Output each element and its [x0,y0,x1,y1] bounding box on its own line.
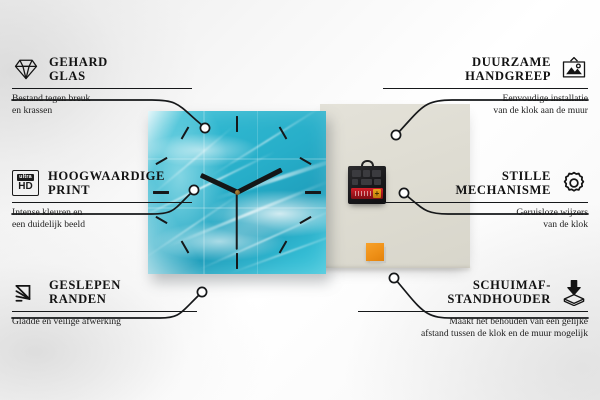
callout-description: Intense kleuren en een duidelijk beeld [12,207,192,230]
infographic-stage: + [0,0,600,400]
callout-rule [383,88,588,89]
callout-duurzame-handgreep: DUURZAME HANDGREEP Eenvoudige installati… [383,52,588,116]
aa-battery: + [351,188,383,199]
gear-icon [560,169,588,197]
clock-center-hub [235,190,240,195]
hour-marker [181,241,190,254]
connector-dot-randen [197,287,206,296]
callout-hoogwaardige-print: ultraHD HOOGWAARDIGE PRINT Intense kleur… [12,166,192,230]
callout-rule [12,88,192,89]
foam-spacer [366,243,384,261]
callout-rule [12,202,192,203]
diamond-icon [12,55,40,83]
callout-schuimafstandhouder: SCHUIMAF- STANDHOUDER Maakt het behouden… [358,275,588,339]
callout-description: Gladde en veilige afwerking [12,316,197,328]
picture-frame-hook-icon [560,55,588,83]
callout-title: GESLEPEN RANDEN [49,278,121,307]
beveled-edges-icon [12,278,40,306]
hour-marker [236,116,238,132]
callout-description: Eenvoudige installatie van de klok aan d… [383,93,588,116]
callout-description: Bestand tegen breuk en krassen [12,93,192,116]
callout-rule [383,202,588,203]
battery-plus-terminal: + [373,189,381,198]
callout-description: Maakt het behouden van een gelijke afsta… [358,316,588,339]
hour-marker [181,127,190,140]
mechanism-body: + [348,166,386,204]
hour-marker [305,191,321,193]
callout-gehard-glas: GEHARD GLAS Bestand tegen breuk en krass… [12,52,192,116]
callout-rule [12,311,197,312]
callout-description: Geruisloze wijzers van de klok [383,207,588,230]
ultra-hd-icon: ultraHD [12,170,39,196]
clock-mechanism: + [348,166,386,204]
second-hand [236,193,238,250]
hour-marker [236,253,238,269]
callout-title: DUURZAME HANDGREEP [465,55,551,84]
callout-rule [358,311,588,312]
callout-geslepen-randen: GESLEPEN RANDEN Gladde en veilige afwerk… [12,275,197,328]
callout-title: STILLE MECHANISME [455,169,551,198]
callout-title: SCHUIMAF- STANDHOUDER [447,278,551,307]
callout-title: HOOGWAARDIGE PRINT [48,169,165,198]
callout-title: GEHARD GLAS [49,55,108,84]
callout-stille-mechanisme: STILLE MECHANISME Geruisloze wijzers van… [383,166,588,230]
press-down-pad-icon [560,278,588,306]
